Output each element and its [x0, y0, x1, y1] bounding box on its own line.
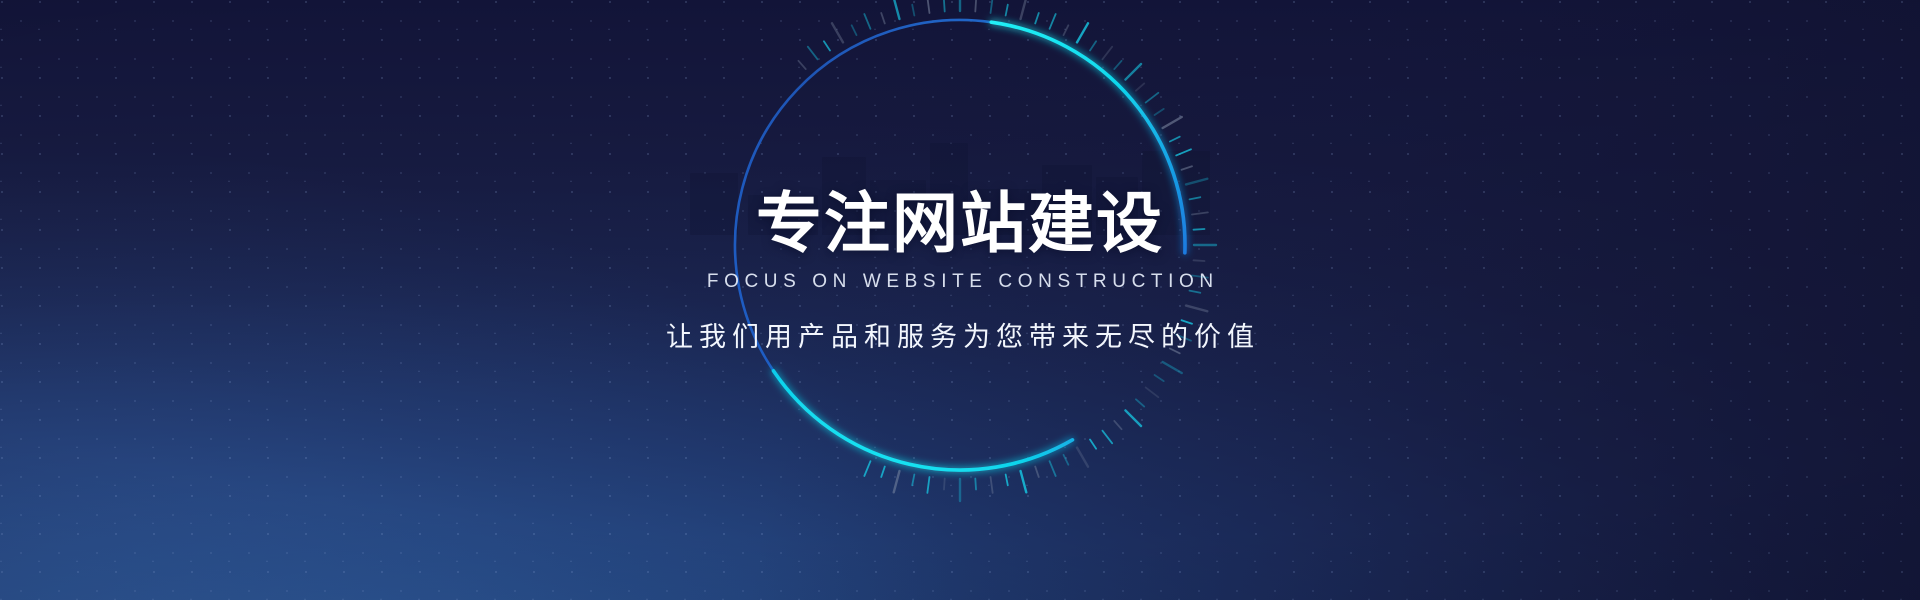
- hero-banner: 专注网站建设 FOCUS ON WEBSITE CONSTRUCTION 让我们…: [0, 0, 1920, 600]
- page-subtitle: FOCUS ON WEBSITE CONSTRUCTION: [0, 271, 1920, 293]
- page-tagline: 让我们用产品和服务为您带来无尽的价值: [0, 315, 1920, 354]
- hero-text-block: 专注网站建设 FOCUS ON WEBSITE CONSTRUCTION 让我们…: [0, 188, 1920, 354]
- page-title: 专注网站建设: [0, 188, 1920, 259]
